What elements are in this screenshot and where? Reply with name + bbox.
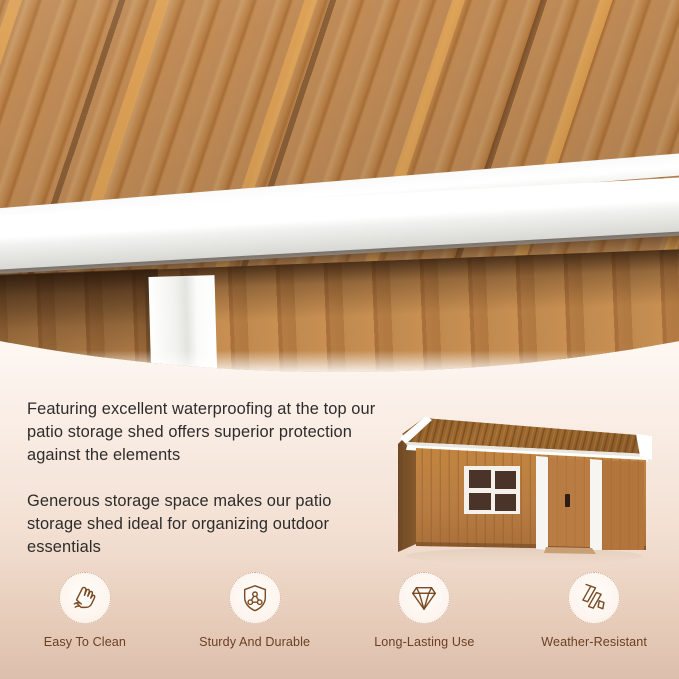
feature-item-long-lasting-use: Long-Lasting Use: [340, 572, 510, 649]
hero-photo: [0, 0, 679, 372]
shed-svg: [378, 404, 660, 564]
hand-wiping-cloth-icon: [70, 583, 100, 613]
feature-label: Long-Lasting Use: [374, 635, 474, 649]
shed-trim-strip-right: [590, 459, 602, 550]
feature-badge-circle: [568, 572, 620, 624]
feature-badges-row: Easy To Clean Sturdy And Durable: [0, 572, 679, 649]
door-threshold: [544, 547, 596, 554]
window-pane-top-left: [469, 470, 491, 488]
shed-door: [544, 458, 596, 554]
feature-item-weather-resistant: Weather-Resistant: [509, 572, 679, 649]
product-shed-illustration: [378, 404, 660, 564]
feature-badge-circle: [398, 572, 450, 624]
shield-molecule-icon: [240, 583, 270, 613]
copy-paragraph-1: Featuring excellent waterproofing at the…: [27, 398, 379, 467]
window-pane-bottom-right: [495, 494, 516, 511]
feature-item-easy-to-clean: Easy To Clean: [0, 572, 170, 649]
window-pane-top-right: [495, 471, 516, 489]
shed-window: [464, 466, 520, 514]
shed-trim-strip-left: [536, 456, 548, 550]
hero-photo-clip: [0, 0, 679, 372]
feature-badge-circle: [59, 572, 111, 624]
door-handle-icon: [565, 494, 570, 507]
copy-paragraph-2: Generous storage space makes our patio s…: [27, 490, 379, 559]
feature-label: Sturdy And Durable: [199, 635, 310, 649]
shed-right-panel-ribs: [602, 460, 644, 550]
hero-bottom-fade: [0, 336, 679, 372]
feature-item-sturdy-and-durable: Sturdy And Durable: [170, 572, 340, 649]
window-pane-bottom-left: [469, 493, 491, 510]
stacked-metal-bars-icon: [579, 583, 609, 613]
feature-badge-circle: [229, 572, 281, 624]
product-feature-page: Featuring excellent waterproofing at the…: [0, 0, 679, 679]
diamond-gem-icon: [409, 583, 439, 613]
feature-label: Weather-Resistant: [541, 635, 647, 649]
feature-label: Easy To Clean: [44, 635, 126, 649]
marketing-copy-block: Featuring excellent waterproofing at the…: [27, 398, 379, 559]
shed-ground-shadow: [406, 548, 642, 564]
